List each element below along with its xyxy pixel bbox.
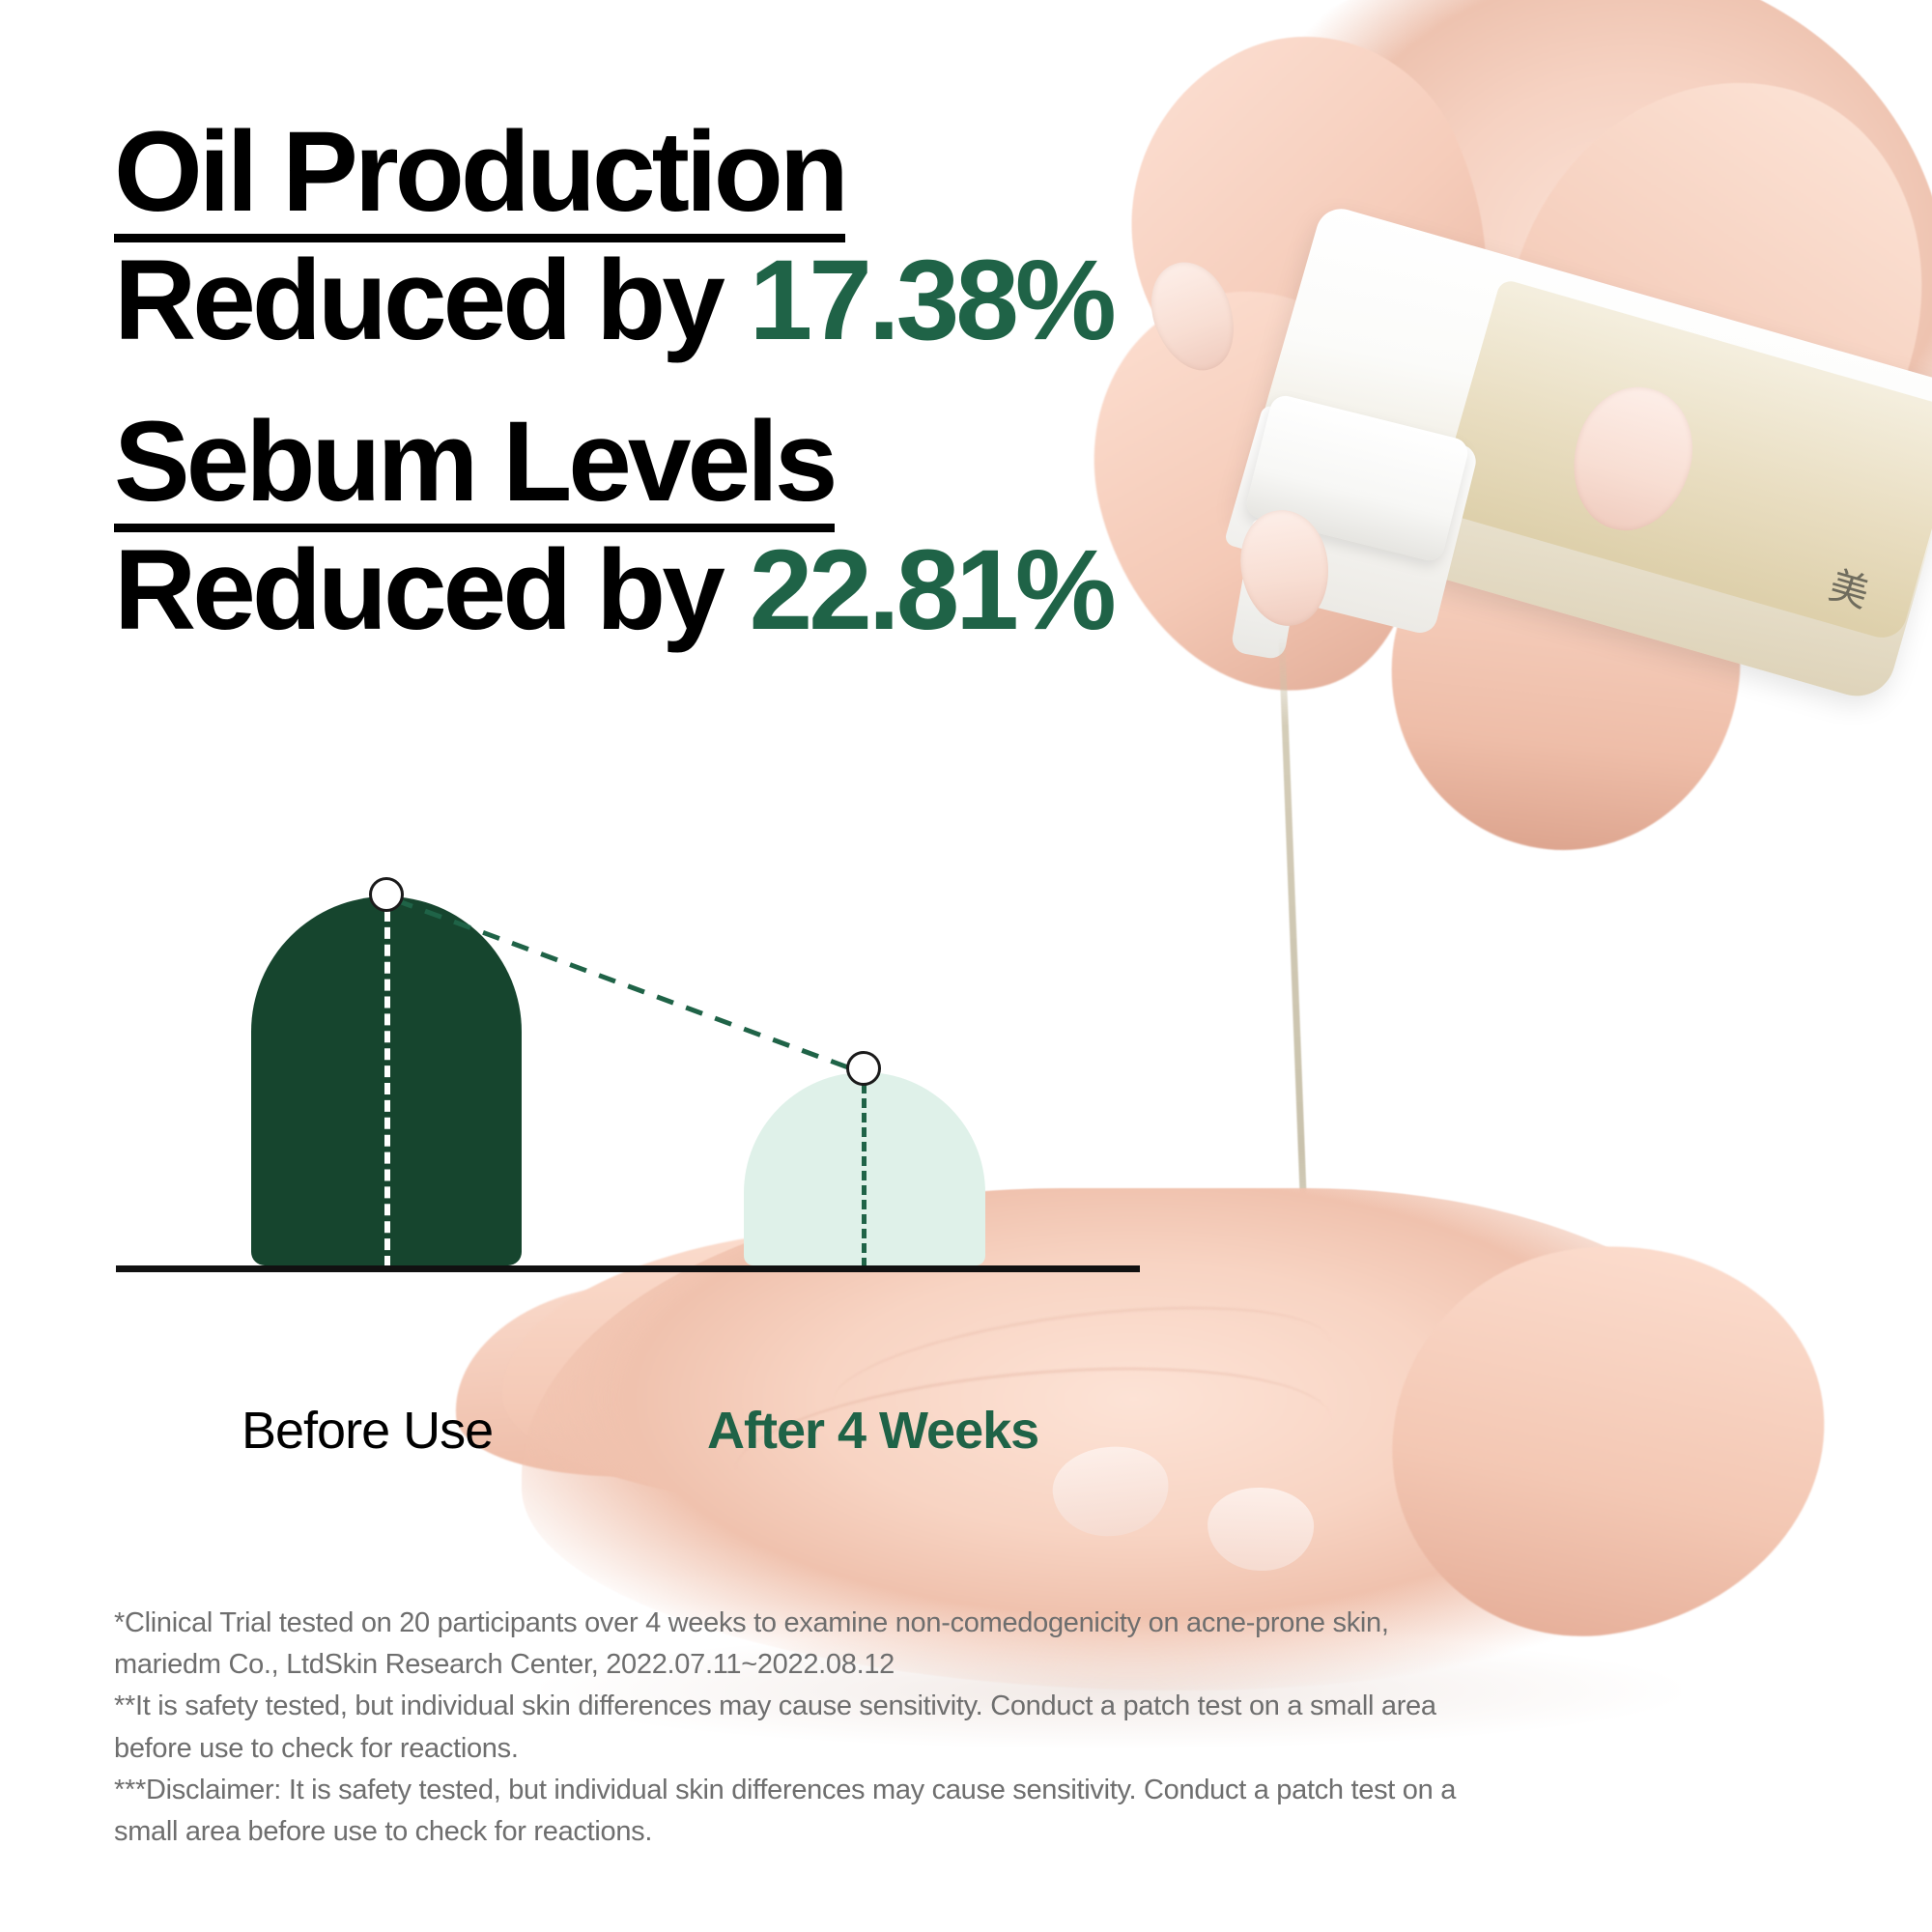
fingernail [1234,504,1336,631]
footnote-line-6: small area before use to check for react… [114,1812,1853,1852]
chart-baseline-axis [116,1265,1140,1272]
footnote-line-1: *Clinical Trial tested on 20 participant… [114,1604,1853,1643]
pump-nozzle [1230,518,1306,661]
axis-label-before-use: Before Use [241,1401,493,1461]
footnote-line-4: before use to check for reactions. [114,1729,1853,1769]
marker-before-use [369,877,404,912]
headline-1-subtitle-row: Reduced by 17.38% [114,242,1235,360]
chart-axis-labels: Before Use After 4 Weeks [116,1401,1140,1468]
serum-bottle-body [1234,203,1932,705]
footnote-line-5: ***Disclaimer: It is safety tested, but … [114,1771,1853,1810]
headline-2-percent: 22.81% [750,526,1113,654]
headline-2-subtitle-row: Reduced by 22.81% [114,532,1235,650]
headline-2-prefix: Reduced by [114,526,750,654]
lower-hand-thumb [1366,1218,1850,1662]
upper-hand-thumb [1452,36,1932,621]
bottle-label-text: 美 [1801,566,1932,719]
fingernail [1557,373,1709,544]
headline-1-title-row: Oil Production [114,114,1235,242]
headline-1-title: Oil Production [114,114,845,242]
serum-stream [1278,638,1313,1372]
pump-collar [1264,407,1479,637]
footnote-block: *Clinical Trial tested on 20 participant… [114,1604,1853,1854]
fingernail [1207,1486,1316,1573]
marker-after-4-weeks [846,1051,881,1086]
footnote-line-2: mariedm Co., LtdSkin Research Center, 20… [114,1645,1853,1685]
sebum-reduction-bar-chart [116,850,1140,1265]
axis-label-after-4-weeks: After 4 Weeks [707,1401,1038,1461]
headline-2-title: Sebum Levels [114,404,835,532]
footnote-line-3: **It is safety tested, but individual sk… [114,1687,1853,1726]
serum-bottle-liquid [1435,278,1932,643]
trend-connector-line [116,850,1140,1265]
headline-1-percent: 17.38% [750,237,1113,364]
headline-block: Oil Production Reduced by 17.38% Sebum L… [114,114,1235,649]
headline-2-title-row: Sebum Levels [114,404,1235,532]
pump-head [1243,393,1470,564]
headline-1-prefix: Reduced by [114,237,750,364]
serum-bottle-neck [1224,404,1376,575]
promo-graphic-canvas: 美 Oil Production Reduced by 17.38% Sebum… [0,0,1932,1932]
upper-hand-ring-finger [1374,485,1756,867]
